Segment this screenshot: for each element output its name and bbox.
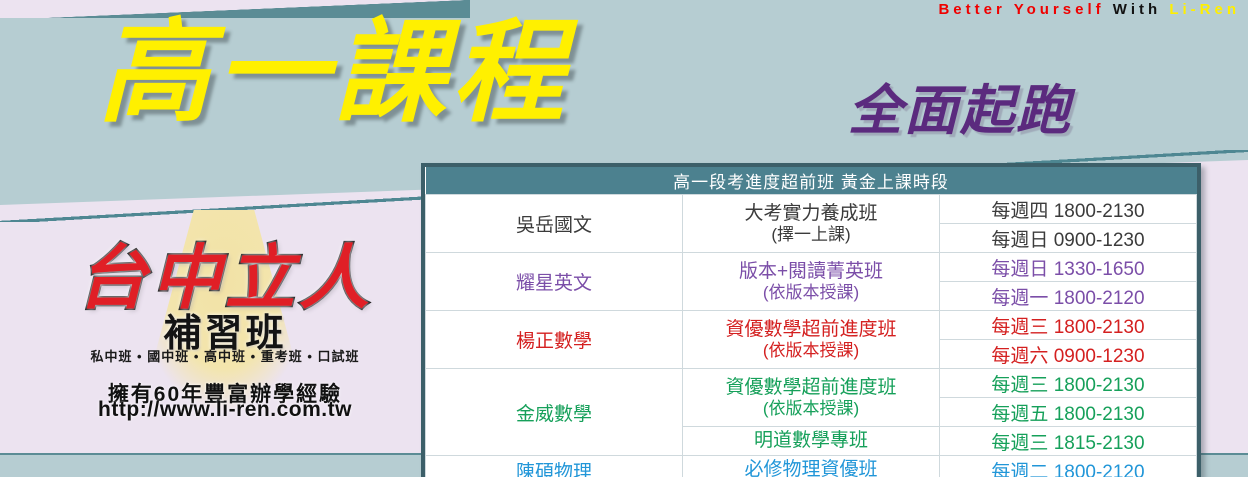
cell-time: 每週三 1815-2130 [940, 427, 1197, 456]
course-name: 大考實力養成班 [744, 203, 877, 224]
table-header-row: 高一段考進度超前班 黃金上課時段 [426, 167, 1197, 195]
cell-course: 大考實力養成班(擇一上課) [683, 195, 940, 253]
table-row: 楊正數學資優數學超前進度班(依版本授課)每週三 1800-2130 [426, 311, 1197, 340]
cell-course: 資優數學超前進度班(依版本授課) [683, 369, 940, 427]
schedule-table: 高一段考進度超前班 黃金上課時段 吳岳國文大考實力養成班(擇一上課)每週四 18… [425, 167, 1197, 477]
course-name: 明道數學專班 [754, 430, 868, 451]
promo-banner: Better Yourself With Li-Ren 高一課程 全面起跑 台中… [0, 0, 1248, 477]
course-note: (依版本授課) [687, 283, 935, 302]
tagline-part-3: Li-Ren [1169, 1, 1240, 18]
table-row: 吳岳國文大考實力養成班(擇一上課)每週四 1800-2130 [426, 195, 1197, 224]
cell-teacher: 吳岳國文 [426, 195, 683, 253]
table-row: 耀星英文版本+閱讀菁英班(依版本授課)每週日 1330-1650 [426, 253, 1197, 282]
course-name: 資優數學超前進度班 [725, 377, 896, 398]
page-subtitle: 全面起跑 [848, 66, 1072, 145]
cell-course: 必修物理資優班 [683, 456, 940, 477]
tagline: Better Yourself With Li-Ren [938, 1, 1240, 18]
tagline-part-1: Better Yourself [938, 1, 1104, 18]
logo-class-list: 私中班 • 國中班 • 高中班 • 重考班 • 口試班 [55, 346, 395, 365]
tagline-part-2: With [1113, 1, 1161, 18]
cell-course: 資優數學超前進度班(依版本授課) [683, 311, 940, 369]
cell-course: 明道數學專班 [683, 427, 940, 456]
course-note: (依版本授課) [687, 341, 935, 360]
cell-teacher: 金威數學 [426, 369, 683, 456]
course-note: (依版本授課) [687, 399, 935, 418]
page-title: 高一課程 [98, 16, 570, 130]
cell-time: 每週五 1800-2130 [940, 398, 1197, 427]
cell-course: 版本+閱讀菁英班(依版本授課) [683, 253, 940, 311]
course-name: 資優數學超前進度班 [725, 319, 896, 340]
schedule-table-body: 吳岳國文大考實力養成班(擇一上課)每週四 1800-2130每週日 0900-1… [426, 195, 1197, 477]
cell-time: 每週四 1800-2130 [940, 195, 1197, 224]
cell-teacher: 楊正數學 [426, 311, 683, 369]
course-note: (擇一上課) [687, 225, 935, 244]
cell-time: 每週三 1800-2130 [940, 311, 1197, 340]
schedule-table-container: 高一段考進度超前班 黃金上課時段 吳岳國文大考實力養成班(擇一上課)每週四 18… [421, 163, 1201, 477]
cell-time: 每週日 1330-1650 [940, 253, 1197, 282]
table-row: 陳碩物理必修物理資優班每週二 1800-2120 [426, 456, 1197, 477]
course-name: 版本+閱讀菁英班 [739, 261, 883, 282]
schedule-table-head: 高一段考進度超前班 黃金上課時段 [426, 167, 1197, 195]
logo-website-url[interactable]: http://www.li-ren.com.tw [55, 398, 395, 422]
cell-time: 每週三 1800-2130 [940, 369, 1197, 398]
cell-time: 每週一 1800-2120 [940, 282, 1197, 311]
cell-teacher: 陳碩物理 [426, 456, 683, 477]
cell-time: 每週六 0900-1230 [940, 340, 1197, 369]
cell-time: 每週二 1800-2120 [940, 456, 1197, 477]
course-name: 必修物理資優班 [744, 459, 877, 477]
cell-teacher: 耀星英文 [426, 253, 683, 311]
cell-time: 每週日 0900-1230 [940, 224, 1197, 253]
table-row: 金威數學資優數學超前進度班(依版本授課)每週三 1800-2130 [426, 369, 1197, 398]
schedule-table-title: 高一段考進度超前班 黃金上課時段 [426, 167, 1197, 195]
